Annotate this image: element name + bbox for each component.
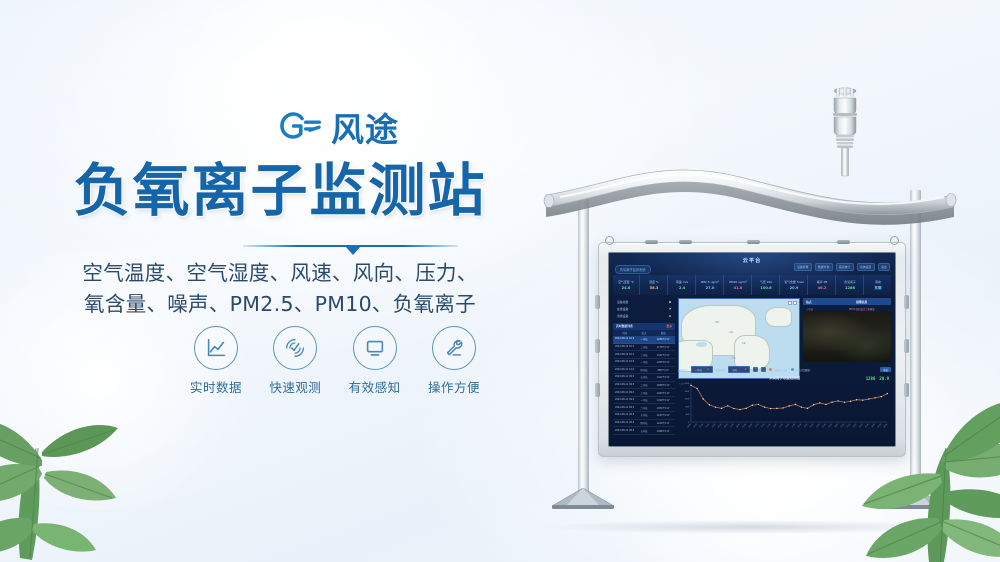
table-cell: 三号站 (634, 391, 653, 395)
camera-feed-panel[interactable] (803, 312, 891, 362)
svg-text:11:00: 11:00 (755, 423, 760, 428)
data-table-title: 实时数据列表 (616, 324, 633, 328)
table-row[interactable]: 2022-08-11 09:55五号站1412个/cm³ (613, 374, 675, 382)
svg-text:21:00: 21:00 (816, 423, 821, 428)
subtitle-line-2: 氧含量、噪声、PM2.5、PM10、负氧离子 (0, 289, 560, 320)
feature-list: 实时数据 快速观测 (180, 326, 490, 396)
kpi-cell: 风向东南 (865, 275, 891, 295)
chart-export-button[interactable]: 导出 (880, 367, 891, 373)
svg-text:00:00: 00:00 (687, 423, 692, 428)
device-stat-row: 离线设备1 (613, 312, 675, 319)
dashboard-tool-button[interactable]: 数据查询 (815, 263, 833, 271)
mount-bolt (747, 240, 760, 244)
feature-item-easy-operation: 操作方便 (418, 326, 490, 396)
feature-item-effective-sensing: 有效感知 (339, 326, 411, 396)
svg-text:08:00: 08:00 (883, 423, 888, 428)
table-cell: 1178个/cm³ (654, 345, 673, 349)
line-chart-icon (194, 326, 238, 370)
chevron-down-icon: ▾ (745, 368, 746, 372)
chart-legend-item: 历史对比数据 (791, 368, 810, 372)
kpi-name: 氧气含量 %Vol (784, 280, 804, 284)
dashboard-left-column: 设备总数8在线设备7离线设备1 实时数据列表 更多 时间站点数值 2022-08… (613, 298, 675, 442)
kpi-value: 41.8 (734, 286, 743, 290)
device-stat-row: 在线设备7 (613, 305, 675, 312)
side-tab (595, 339, 600, 353)
svg-text:07:00: 07:00 (877, 423, 882, 428)
chevron-down-icon: ▾ (707, 368, 708, 372)
table-row[interactable]: 2022-08-11 10:15二号站1178个/cm³ (613, 344, 675, 352)
svg-text:1200: 1200 (684, 399, 689, 401)
table-cell: 2022-08-11 09:55 (615, 375, 634, 379)
data-table-column-header: 数值 (654, 331, 673, 335)
minus-icon[interactable] (793, 301, 797, 305)
table-cell: 1205个/cm³ (654, 360, 673, 364)
kpi-cell: PM2.5 ug/m³27.0 (697, 275, 724, 295)
data-table-body[interactable]: 2022-08-11 10:20一号站1286个/cm³2022-08-11 1… (613, 336, 675, 435)
kpi-name: 湿度 % (649, 280, 658, 284)
side-tab (904, 339, 909, 353)
svg-text:800: 800 (686, 406, 690, 408)
table-cell: 2022-08-11 10:00 (615, 368, 634, 372)
kpi-name: 负氧离子 (844, 280, 856, 284)
svg-text:04:00: 04:00 (712, 423, 717, 428)
table-cell: 一号站 (634, 360, 653, 364)
svg-text:400: 400 (686, 414, 690, 416)
table-row[interactable]: 2022-08-11 09:20五号站1366个/cm³ (613, 427, 675, 435)
table-cell: 二号站 (634, 345, 653, 349)
plus-icon[interactable] (788, 301, 792, 305)
alarm-col-site: 站点 (806, 300, 836, 304)
svg-text:00:00: 00:00 (834, 423, 839, 428)
table-cell: 2022-08-11 09:35 (615, 406, 634, 410)
table-cell: 2022-08-11 09:40 (615, 398, 634, 402)
kpi-value: 1286 (845, 286, 855, 290)
legend-swatch (769, 368, 772, 371)
calendar-icon[interactable] (753, 367, 758, 372)
feature-subtitle: 空气温度、空气湿度、风速、风向、压力、 氧含量、噪声、PM2.5、PM10、负氧… (0, 258, 560, 320)
svg-text:13:00: 13:00 (767, 423, 772, 428)
svg-text:22:00: 22:00 (822, 423, 827, 428)
table-row[interactable]: 2022-08-11 10:10三号站1342个/cm³ (613, 351, 675, 359)
stat-value: 7 (669, 307, 671, 311)
svg-text:15:00: 15:00 (779, 423, 784, 428)
legend-label: 历史对比数据 (795, 368, 809, 372)
trend-line-chart: 040080012001600200000:0001:0002:0003:000… (678, 380, 891, 436)
table-cell: 2022-08-11 10:20 (615, 337, 634, 341)
kpi-cell: 负氧离子1286 (837, 275, 864, 295)
trend-chart-panel: 选择站点 一号站 ▾ 数据类型 小时 ▾ (678, 365, 891, 443)
svg-text:02:00: 02:00 (699, 423, 704, 428)
display-enclosure: 云平台 负氧离子监测系统 设备管理数据查询报表统计系统设置退出 空气温度 ℃24… (598, 242, 906, 457)
feature-label: 实时数据 (180, 377, 252, 396)
chart-legend-item: 负氧离子浓度 (769, 368, 788, 372)
alarm-cell: 三号站 (806, 307, 836, 311)
kpi-value: 27.0 (706, 286, 715, 290)
table-cell: 2022-08-11 10:15 (615, 345, 634, 349)
page-title: 负氧离子监测站 (0, 160, 560, 224)
table-row[interactable]: 2022-08-11 09:35六号站1054个/cm³ (613, 404, 675, 412)
map-lake (696, 342, 707, 348)
svg-text:06:00: 06:00 (724, 423, 729, 428)
map-landmass (765, 307, 791, 328)
support-post-left (578, 195, 589, 495)
brand-name: 风途 (331, 113, 399, 146)
kpi-name: 气压 kPa (760, 280, 772, 284)
hanger-ring-left (605, 236, 614, 245)
svg-text:06:00: 06:00 (871, 423, 876, 428)
monitor-display-icon (353, 326, 397, 370)
side-tab (595, 383, 600, 397)
table-row[interactable]: 2022-08-11 09:45三号站1263个/cm³ (613, 389, 675, 397)
table-cell: 1342个/cm³ (654, 353, 673, 357)
table-cell: 2022-08-11 10:05 (615, 360, 634, 364)
table-cell: 1263个/cm³ (654, 391, 673, 395)
hanger-ring-right (890, 236, 899, 245)
kpi-name: PM10 ug/m³ (729, 280, 746, 284)
stat-value: 8 (669, 300, 671, 304)
dashboard-system-tag: 负氧离子监测系统 (615, 265, 651, 274)
poster-canvas: 风途 负氧离子监测站 空气温度、空气湿度、风速、风向、压力、 氧含量、噪声、PM… (0, 0, 1000, 562)
map-label: 山东 (729, 331, 733, 334)
mount-bolt (679, 240, 692, 244)
kpi-cell: 湿度 %58.3 (641, 275, 668, 295)
svg-text:10:00: 10:00 (748, 423, 753, 428)
table-row[interactable]: 2022-08-11 10:05一号站1205个/cm³ (613, 359, 675, 367)
data-table-more-link[interactable]: 更多 (666, 324, 672, 328)
side-tab (904, 383, 909, 397)
post-base-right (884, 488, 946, 510)
svg-text:18:00: 18:00 (798, 423, 803, 428)
svg-text:07:00: 07:00 (730, 423, 735, 428)
kpi-name: 风向 (875, 280, 881, 284)
map-zoom-controls[interactable] (788, 301, 797, 305)
kpi-cell: 空气温度 ℃24.6 (613, 275, 640, 295)
svg-text:05:00: 05:00 (865, 423, 870, 428)
chart-type-select[interactable]: 小时 ▾ (728, 366, 750, 374)
table-cell: 一号站 (634, 337, 653, 341)
svg-text:20:00: 20:00 (810, 423, 815, 428)
reading-value-1: 1286 (866, 376, 876, 381)
map-label: 北京 (715, 321, 719, 324)
chart-type-value: 小时 (732, 368, 737, 372)
monitoring-dashboard: 云平台 负氧离子监测系统 设备管理数据查询报表统计系统设置退出 空气温度 ℃24… (609, 253, 895, 446)
kpi-value: 100.6 (760, 286, 771, 290)
table-cell: 2022-08-11 09:45 (615, 391, 634, 395)
svg-text:03:00: 03:00 (853, 423, 858, 428)
chart-site-value: 一号站 (695, 368, 702, 372)
dashboard-tool-button[interactable]: 报表统计 (836, 263, 854, 271)
display-screen[interactable]: 云平台 负氧离子监测系统 设备管理数据查询报表统计系统设置退出 空气温度 ℃24… (608, 252, 896, 447)
svg-text:12:00: 12:00 (761, 423, 766, 428)
post-base-left (552, 488, 614, 510)
mount-bolt (837, 240, 850, 244)
side-tab (904, 295, 909, 309)
kpi-name: 空气温度 ℃ (618, 280, 634, 284)
svg-text:个/cm³: 个/cm³ (679, 382, 685, 385)
svg-text:14:00: 14:00 (773, 423, 778, 428)
svg-text:08:00: 08:00 (736, 423, 741, 428)
svg-text:2000: 2000 (684, 383, 689, 385)
device-stat-row: 设备总数8 (613, 298, 675, 305)
feature-label: 快速观测 (259, 377, 331, 396)
support-post-right (910, 190, 921, 495)
table-cell: 1249个/cm³ (654, 421, 673, 425)
table-cell: 一号站 (634, 398, 653, 402)
live-reading-box: 1286 20.9 (866, 376, 889, 381)
stat-label: 在线设备 (617, 307, 628, 311)
kpi-cell: 氧气含量 %Vol20.9 (781, 275, 808, 295)
table-cell: 1366个/cm³ (654, 429, 673, 433)
radar-scan-check-icon (273, 326, 317, 370)
table-cell: 五号站 (634, 429, 653, 433)
table-cell: 四号站 (634, 368, 653, 372)
map-label: 广东 (732, 357, 736, 360)
kpi-cell: 噪声 dB46.2 (809, 275, 836, 295)
reading-value-2: 20.9 (879, 376, 889, 381)
svg-text:02:00: 02:00 (847, 423, 852, 428)
table-cell: 五号站 (634, 375, 653, 379)
stat-label: 离线设备 (617, 314, 628, 318)
kpi-value: 58.3 (650, 286, 659, 290)
table-row[interactable]: 2022-08-11 10:20一号站1286个/cm³ (613, 336, 675, 344)
kpi-name: PM2.5 ug/m³ (701, 280, 719, 284)
device-stats: 设备总数8在线设备7离线设备1 (613, 298, 675, 320)
subtitle-line-1: 空气温度、空气湿度、风速、风向、压力、 (0, 258, 560, 289)
kpi-name: 噪声 dB (817, 280, 828, 284)
feature-item-realtime-data: 实时数据 (180, 326, 252, 396)
mount-bolt (645, 240, 658, 244)
svg-text:09:00: 09:00 (742, 423, 747, 428)
table-row[interactable]: 2022-08-11 09:30七号站1187个/cm³ (613, 412, 675, 420)
table-row[interactable]: 2022-08-11 09:50二号站1098个/cm³ (613, 382, 675, 390)
chart-site-label: 选择站点 (678, 368, 688, 372)
table-cell: 1054个/cm³ (654, 406, 673, 410)
svg-text:03:00: 03:00 (706, 423, 711, 428)
table-cell: 2022-08-11 09:20 (615, 429, 634, 433)
svg-text:17:00: 17:00 (791, 423, 796, 428)
alarm-col-info: 报警信息 (836, 300, 888, 304)
table-cell: 六号站 (634, 406, 653, 410)
side-tab (595, 295, 600, 309)
wrench-tool-icon (432, 326, 476, 370)
table-cell: 1412个/cm³ (654, 375, 673, 379)
svg-text:19:00: 19:00 (804, 423, 809, 428)
kpi-cell: 气压 kPa100.6 (753, 275, 780, 295)
feature-label: 有效感知 (339, 377, 411, 396)
wave-canopy (540, 165, 960, 235)
title-divider (243, 243, 458, 255)
legend-label: 负氧离子浓度 (774, 368, 788, 372)
fengtu-g-mark-icon (278, 112, 324, 146)
kpi-name: 风速 m/s (676, 280, 688, 284)
table-cell: 2022-08-11 10:10 (615, 353, 634, 357)
table-cell: 2022-08-11 09:25 (615, 421, 634, 425)
brand-logo: 风途 (278, 112, 399, 146)
table-cell: 1320个/cm³ (654, 398, 673, 402)
svg-text:05:00: 05:00 (718, 423, 723, 428)
chart-type-label: 数据类型 (716, 368, 726, 372)
dashboard-tool-button[interactable]: 设备管理 (794, 263, 812, 271)
table-cell: 2022-08-11 09:50 (615, 383, 634, 387)
legend-swatch (791, 368, 794, 371)
dashboard-tool-button[interactable]: 退出 (878, 263, 890, 271)
kpi-value: 46.2 (818, 286, 827, 290)
table-row[interactable]: 2022-08-11 09:40一号站1320个/cm³ (613, 397, 675, 405)
svg-text:23:00: 23:00 (828, 423, 833, 428)
alarm-cell: PM10 超出设定上限阈值 (836, 307, 888, 311)
table-cell: 1098个/cm³ (654, 383, 673, 387)
kpi-value: 24.6 (622, 286, 631, 290)
dashboard-tool-button[interactable]: 系统设置 (857, 263, 875, 271)
table-row[interactable]: 2022-08-11 09:25四号站1249个/cm³ (613, 420, 675, 428)
table-cell: 三号站 (634, 353, 653, 357)
text-panel: 风途 负氧离子监测站 空气温度、空气湿度、风速、风向、压力、 氧含量、噪声、PM… (0, 0, 560, 562)
monitoring-station-structure: 云平台 负氧离子监测系统 设备管理数据查询报表统计系统设置退出 空气温度 ℃24… (540, 70, 960, 530)
data-table-column-header: 时间 (615, 331, 634, 335)
svg-text:16:00: 16:00 (785, 423, 790, 428)
dashboard-toolbar[interactable]: 设备管理数据查询报表统计系统设置退出 (794, 263, 890, 271)
table-row[interactable]: 2022-08-11 10:00四号站986个/cm³ (613, 367, 675, 375)
kpi-strip: 空气温度 ℃24.6湿度 %58.3风速 m/s2.4PM2.5 ug/m³27… (613, 275, 891, 295)
table-cell: 七号站 (634, 413, 653, 417)
svg-text:1600: 1600 (684, 391, 689, 393)
map-label: 上海 (741, 342, 745, 345)
feature-item-fast-observation: 快速观测 (259, 326, 331, 396)
data-table-column-header: 站点 (634, 331, 653, 335)
kpi-value: 2.4 (679, 286, 685, 290)
data-table-header: 实时数据列表 更多 (613, 323, 675, 330)
alarm-table-header: 站点 报警信息 (803, 298, 891, 305)
svg-text:04:00: 04:00 (859, 423, 864, 428)
feature-label: 操作方便 (418, 377, 490, 396)
dashboard-right-column: 站点 报警信息 三号站PM10 超出设定上限阈值 (803, 298, 891, 362)
svg-text:01:00: 01:00 (693, 423, 698, 428)
stat-label: 设备总数 (617, 300, 628, 304)
chart-toolbar[interactable]: 选择站点 一号站 ▾ 数据类型 小时 ▾ (678, 365, 891, 374)
table-cell: 2022-08-11 09:30 (615, 413, 634, 417)
kpi-value: 东南 (874, 286, 881, 291)
svg-text:01:00: 01:00 (840, 423, 845, 428)
stat-value: 1 (669, 314, 671, 318)
table-cell: 1286个/cm³ (654, 337, 673, 341)
table-cell: 1187个/cm³ (654, 413, 673, 417)
table-cell: 二号站 (634, 383, 653, 387)
kpi-cell: 风速 m/s2.4 (669, 275, 696, 295)
table-cell: 四号站 (634, 421, 653, 425)
kpi-value: 20.9 (790, 286, 799, 290)
refresh-icon[interactable] (761, 367, 766, 372)
kpi-cell: PM10 ug/m³41.8 (725, 275, 752, 295)
table-cell: 986个/cm³ (654, 368, 673, 372)
chevron-down-triangle-icon (345, 246, 361, 255)
chart-site-select[interactable]: 一号站 ▾ (691, 366, 713, 374)
